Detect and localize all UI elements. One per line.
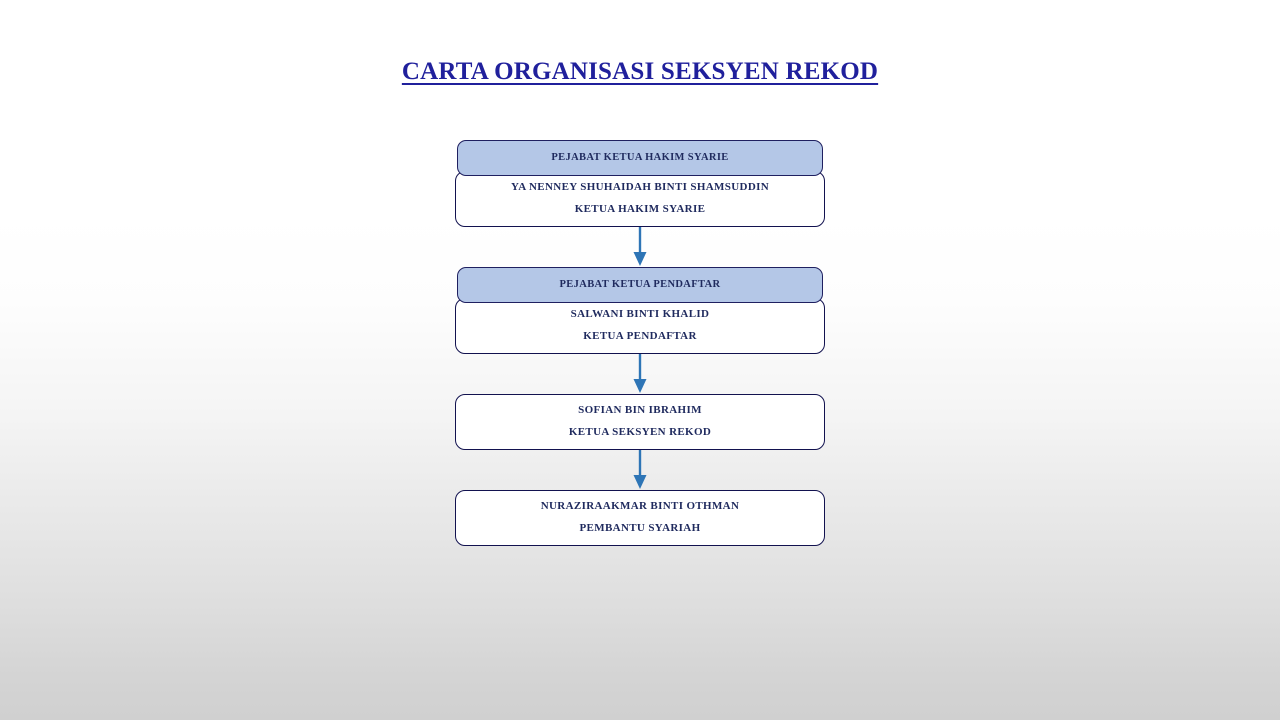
page-title: CARTA ORGANISASI SEKSYEN REKOD <box>0 58 1280 86</box>
org-node-1-body: SALWANI BINTI KHALID KETUA PENDAFTAR <box>455 298 825 354</box>
org-node-0-position: KETUA HAKIM SYARIE <box>464 204 816 215</box>
org-chart: PEJABAT KETUA HAKIM SYARIE YA NENNEY SHU… <box>0 140 1280 546</box>
down-arrow-icon <box>632 349 648 395</box>
org-node-1-header: PEJABAT KETUA PENDAFTAR <box>457 267 823 303</box>
org-node-3-position: PEMBANTU SYARIAH <box>464 523 816 534</box>
org-connector-2 <box>455 450 825 490</box>
down-arrow-icon <box>632 445 648 491</box>
down-arrow-icon <box>632 222 648 268</box>
org-node-1-name: SALWANI BINTI KHALID <box>464 309 816 320</box>
org-node-0-name: YA NENNEY SHUHAIDAH BINTI SHAMSUDDIN <box>464 182 816 193</box>
org-node-0-body: YA NENNEY SHUHAIDAH BINTI SHAMSUDDIN KET… <box>455 171 825 227</box>
org-node-3-name: NURAZIRAAKMAR BINTI OTHMAN <box>464 501 816 512</box>
org-node-0: PEJABAT KETUA HAKIM SYARIE YA NENNEY SHU… <box>455 140 825 227</box>
org-node-2-body: SOFIAN BIN IBRAHIM KETUA SEKSYEN REKOD <box>455 394 825 450</box>
org-node-2: SOFIAN BIN IBRAHIM KETUA SEKSYEN REKOD <box>455 394 825 450</box>
org-connector-1 <box>455 354 825 394</box>
org-node-3-body: NURAZIRAAKMAR BINTI OTHMAN PEMBANTU SYAR… <box>455 490 825 546</box>
org-node-2-name: SOFIAN BIN IBRAHIM <box>464 405 816 416</box>
org-node-1: PEJABAT KETUA PENDAFTAR SALWANI BINTI KH… <box>455 267 825 354</box>
org-connector-0 <box>455 227 825 267</box>
org-node-2-position: KETUA SEKSYEN REKOD <box>464 427 816 438</box>
org-node-0-header: PEJABAT KETUA HAKIM SYARIE <box>457 140 823 176</box>
org-node-1-position: KETUA PENDAFTAR <box>464 331 816 342</box>
org-node-3: NURAZIRAAKMAR BINTI OTHMAN PEMBANTU SYAR… <box>455 490 825 546</box>
